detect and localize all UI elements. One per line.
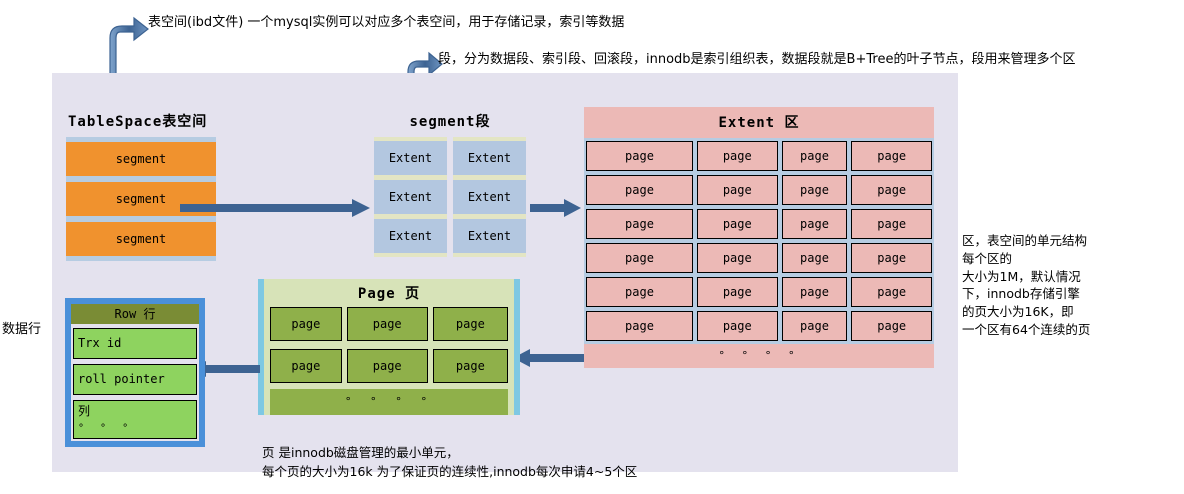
- extent-column: page page page page page page: [849, 138, 934, 344]
- page-block[interactable]: page: [697, 175, 778, 205]
- arrow-tablespace-to-segment: [180, 199, 372, 217]
- page-bottom-note: 页 是innodb磁盘管理的最小单元， 每个页的大小为16k 为了保证页的连续性…: [262, 444, 882, 482]
- page-block[interactable]: page: [270, 307, 342, 341]
- page-block[interactable]: page: [586, 175, 693, 205]
- page-column: page page: [270, 307, 342, 383]
- row-field-roll-pointer[interactable]: roll pointer: [73, 364, 197, 395]
- extent-column: page page page page page page: [584, 138, 695, 344]
- page-block[interactable]: page: [433, 349, 508, 383]
- page-block[interactable]: page: [697, 311, 778, 341]
- row-field-column[interactable]: 列 ° ° °: [73, 400, 197, 439]
- page-block[interactable]: page: [347, 307, 428, 341]
- row-field-trx-id[interactable]: Trx id: [73, 328, 197, 359]
- row-ellipsis: ° ° °: [78, 421, 133, 437]
- segment-title: segment段: [374, 111, 526, 131]
- page-block[interactable]: page: [586, 209, 693, 239]
- main-panel: TableSpace表空间 segment segment segment se…: [52, 73, 958, 472]
- extent-column: page page page page page page: [695, 138, 780, 344]
- page-column: page page: [347, 307, 428, 383]
- segment-column: Extent Extent Extent: [374, 137, 447, 257]
- page-block[interactable]: page: [433, 307, 508, 341]
- page-title: Page 页: [264, 279, 514, 307]
- page-block[interactable]: page: [851, 175, 932, 205]
- extent-block[interactable]: Extent: [374, 141, 447, 175]
- extent-section: Extent 区 page page page page page page p…: [584, 107, 934, 368]
- extent-block[interactable]: Extent: [453, 180, 526, 214]
- page-block[interactable]: page: [697, 277, 778, 307]
- segment-body: Extent Extent Extent Extent Extent Exten…: [374, 137, 526, 257]
- page-block[interactable]: page: [586, 311, 693, 341]
- extent-block[interactable]: Extent: [453, 219, 526, 253]
- page-block[interactable]: page: [586, 141, 693, 171]
- page-section: Page 页 page page page page page page ° °…: [258, 279, 520, 415]
- page-column: page page: [433, 307, 508, 383]
- page-block[interactable]: page: [782, 209, 848, 239]
- segment-annotation: 段，分为数据段、索引段、回滚段，innodb是索引组织表，数据段就是B+Tree…: [438, 52, 1075, 68]
- extent-grid: page page page page page page page page …: [584, 138, 934, 344]
- diagram-canvas: 表空间(ibd文件) 一个mysql实例可以对应多个表空间，用于存储记录，索引等…: [0, 0, 1184, 494]
- page-block[interactable]: page: [782, 175, 848, 205]
- extent-ellipsis: ° ° ° °: [584, 344, 934, 368]
- extent-block[interactable]: Extent: [374, 219, 447, 253]
- arrow-extent-to-page: [512, 349, 584, 367]
- segment-block[interactable]: segment: [66, 142, 216, 176]
- tablespace-section: TableSpace表空间 segment segment segment: [66, 111, 216, 261]
- row-section: Row 行 Trx id roll pointer 列 ° ° °: [65, 298, 205, 447]
- extent-column: page page page page page page: [780, 138, 850, 344]
- segment-section: segment段 Extent Extent Extent Extent Ext…: [374, 111, 526, 257]
- page-block[interactable]: page: [697, 209, 778, 239]
- page-block[interactable]: page: [851, 209, 932, 239]
- row-title: Row 行: [71, 304, 199, 324]
- page-block[interactable]: page: [782, 277, 848, 307]
- page-grid: page page page page page page: [264, 307, 514, 383]
- page-block[interactable]: page: [697, 141, 778, 171]
- page-block[interactable]: page: [851, 311, 932, 341]
- row-left-label: 数据行: [2, 318, 41, 337]
- extent-side-note: 区，表空间的单元结构 每个区的 大小为1M，默认情况 下，innodb存储引擎 …: [962, 232, 1177, 339]
- page-block[interactable]: page: [586, 243, 693, 273]
- page-block[interactable]: page: [270, 349, 342, 383]
- segment-column: Extent Extent Extent: [453, 137, 526, 257]
- page-block[interactable]: page: [851, 243, 932, 273]
- page-ellipsis: ° ° ° °: [270, 389, 508, 415]
- page-block[interactable]: page: [347, 349, 428, 383]
- page-block[interactable]: page: [586, 277, 693, 307]
- row-cells: Trx id roll pointer 列 ° ° °: [71, 324, 199, 441]
- extent-block[interactable]: Extent: [374, 180, 447, 214]
- page-block[interactable]: page: [851, 141, 932, 171]
- page-block[interactable]: page: [782, 243, 848, 273]
- row-field-column-label: 列: [78, 404, 90, 418]
- page-block[interactable]: page: [697, 243, 778, 273]
- page-block[interactable]: page: [851, 277, 932, 307]
- extent-title: Extent 区: [584, 107, 934, 138]
- segment-block[interactable]: segment: [66, 222, 216, 256]
- tablespace-annotation: 表空间(ibd文件) 一个mysql实例可以对应多个表空间，用于存储记录，索引等…: [148, 15, 624, 31]
- page-block[interactable]: page: [782, 141, 848, 171]
- page-block[interactable]: page: [782, 311, 848, 341]
- extent-block[interactable]: Extent: [453, 141, 526, 175]
- tablespace-title: TableSpace表空间: [66, 111, 216, 131]
- arrow-segment-to-extent: [530, 199, 582, 217]
